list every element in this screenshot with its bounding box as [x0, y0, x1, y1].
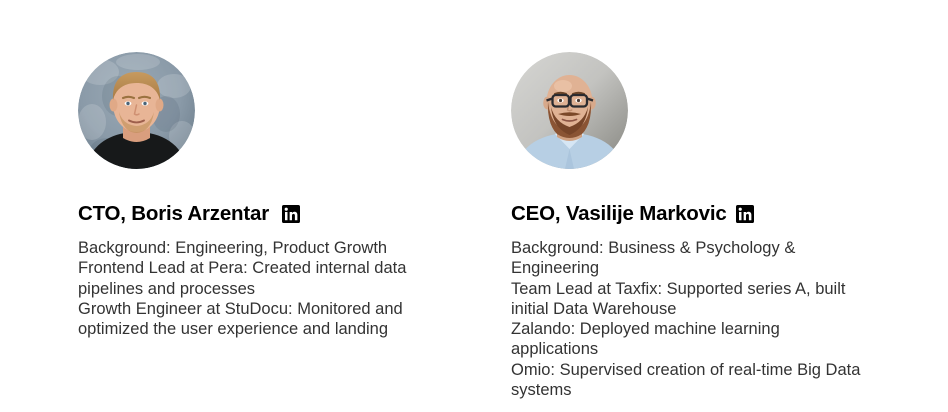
avatar [78, 52, 195, 169]
linkedin-icon[interactable] [282, 205, 300, 223]
profile-card-ceo: CEO, Vasilije Markovic Background: Busin… [511, 52, 871, 400]
avatar [511, 52, 628, 169]
profile-bio: Background: Business & Psychology & Engi… [511, 238, 863, 400]
profile-name: CTO, Boris Arzentar [78, 202, 269, 226]
team-profiles-section: CTO, Boris Arzentar Background: Engineer… [0, 0, 948, 412]
profile-card-cto: CTO, Boris Arzentar Background: Engineer… [78, 52, 438, 339]
profile-heading: CEO, Vasilije Markovic [511, 202, 871, 226]
profile-name: CEO, Vasilije Markovic [511, 202, 727, 226]
profile-bio: Background: Engineering, Product Growth … [78, 238, 423, 339]
profile-heading: CTO, Boris Arzentar [78, 202, 438, 226]
linkedin-icon[interactable] [736, 205, 754, 223]
